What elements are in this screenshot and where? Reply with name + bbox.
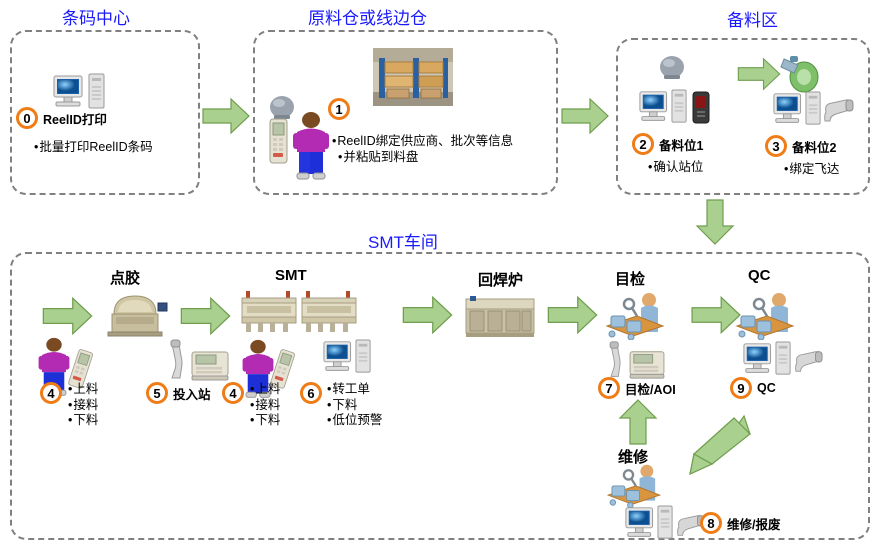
bullet: 接料: [250, 398, 280, 414]
step-2-bullets: 确认站位: [648, 160, 703, 176]
inspection-bench-icon: [733, 290, 797, 340]
arrow-diagonal-down-left-icon: [672, 412, 752, 482]
process-title-visual: 目检: [615, 268, 645, 289]
step-badge-7: 7: [598, 377, 620, 399]
inspection-bench-icon: [604, 462, 664, 508]
step-4b: 4: [222, 382, 244, 404]
pc-tower-icon: [671, 89, 688, 125]
step-7: 7 目检/AOI: [598, 377, 676, 399]
zone-title-prep-area: 备料区: [727, 6, 778, 31]
step-4b-bullets: 上料 接料 下料: [250, 382, 280, 429]
bullet: 绑定飞达: [784, 162, 839, 178]
step-3: 3 备料位2: [765, 135, 836, 157]
step-1-bullets: ReelID绑定供应商、批次等信息 并粘贴到料盘: [332, 134, 522, 165]
step-badge-9: 9: [730, 377, 752, 399]
arrow-right-icon: [178, 295, 233, 337]
step-9: 9 QC: [730, 377, 776, 399]
step-label-9: QC: [757, 381, 776, 395]
smt-placement-machine-icon: [240, 289, 298, 335]
bullet: 低位预警: [327, 413, 382, 429]
barcode-scanner-icon: [690, 90, 712, 125]
bullet: 上料: [250, 382, 280, 398]
bullet: 批量打印ReelID条码: [34, 140, 153, 156]
smt-placement-machine-icon: [300, 289, 358, 335]
step-badge-1: 1: [328, 98, 350, 120]
feeder-device-icon: [778, 53, 826, 95]
bullet: 转工单: [327, 382, 382, 398]
step-badge-2: 2: [632, 133, 654, 155]
pc-tower-icon: [657, 505, 674, 541]
bullet: 接料: [68, 398, 98, 414]
handheld-terminal-icon: [266, 117, 292, 165]
step-badge-3: 3: [765, 135, 787, 157]
process-title-smt: SMT: [275, 267, 307, 284]
arrow-right-icon: [40, 295, 95, 337]
step-label-3: 备料位2: [792, 137, 836, 156]
zone-title-material-warehouse: 原料仓或线边仓: [308, 4, 427, 29]
zone-title-smt-workshop: SMT车间: [368, 228, 438, 253]
bullet: ReelID绑定供应商、批次等信息: [332, 134, 522, 150]
pc-tower-icon: [88, 73, 106, 111]
process-title-dispense: 点胶: [110, 267, 140, 288]
worker-person-icon: [290, 110, 332, 182]
step-0: 0 ReelID打印: [16, 107, 107, 129]
pc-tower-icon: [805, 91, 822, 127]
arrow-right-icon: [400, 294, 455, 336]
barcode-scanner-icon: [822, 96, 856, 126]
step-label-8: 维修/报废: [727, 514, 780, 533]
zone-title-barcode-center: 条码中心: [62, 4, 130, 29]
bullet: 上料: [68, 382, 98, 398]
barcode-scanner-icon: [793, 348, 825, 376]
step-8: 8 维修/报废: [700, 512, 780, 534]
pc-tower-icon: [775, 341, 792, 377]
arrow-right-icon: [735, 56, 783, 92]
glue-dispenser-machine-icon: [102, 290, 168, 338]
step-badge-8: 8: [700, 512, 722, 534]
bullet: 下料: [250, 413, 280, 429]
step-badge-5: 5: [146, 382, 168, 404]
reflow-oven-icon: [464, 295, 536, 339]
step-badge-6: 6: [300, 382, 322, 404]
step-0-bullets: 批量打印ReelID条码: [34, 140, 153, 156]
step-4a-bullets: 上料 接料 下料: [68, 382, 98, 429]
step-label-7: 目检/AOI: [625, 379, 676, 398]
step-1: 1: [328, 98, 350, 120]
step-badge-4b: 4: [222, 382, 244, 404]
pc-tower-icon: [355, 339, 372, 375]
step-2: 2 备料位1: [632, 133, 703, 155]
step-3-bullets: 绑定飞达: [784, 162, 839, 178]
step-label-2: 备料位1: [659, 135, 703, 154]
flowchart-canvas: 条码中心 0 ReelID打印 批量打印ReelID条码: [0, 0, 885, 548]
step-6: 6: [300, 382, 322, 404]
bullet: 下料: [68, 413, 98, 429]
step-badge-0: 0: [16, 107, 38, 129]
step-label-0: ReelID打印: [43, 109, 107, 128]
step-badge-4a: 4: [40, 382, 62, 404]
inspection-bench-icon: [603, 290, 667, 340]
handheld-terminal-icon: [190, 348, 230, 382]
step-label-5: 投入站: [173, 384, 211, 403]
step-5: 5 投入站: [146, 382, 211, 404]
dome-lamp-icon: [658, 55, 686, 81]
arrow-down-icon: [694, 198, 736, 246]
bullet-continuation: 并粘贴到料盘: [338, 150, 522, 166]
process-title-qc: QC: [748, 267, 771, 284]
arrow-up-icon: [618, 398, 658, 446]
bullet: 下料: [327, 398, 382, 414]
arrow-right-icon: [560, 96, 610, 136]
warehouse-rack-photo-icon: [373, 48, 453, 106]
bullet: 确认站位: [648, 160, 703, 176]
arrow-right-icon: [201, 96, 251, 136]
arrow-right-icon: [545, 294, 600, 336]
step-4a: 4: [40, 382, 62, 404]
step-6-bullets: 转工单 下料 低位预警: [327, 382, 382, 429]
handheld-terminal-icon: [627, 348, 667, 380]
process-title-reflow: 回焊炉: [478, 269, 523, 290]
